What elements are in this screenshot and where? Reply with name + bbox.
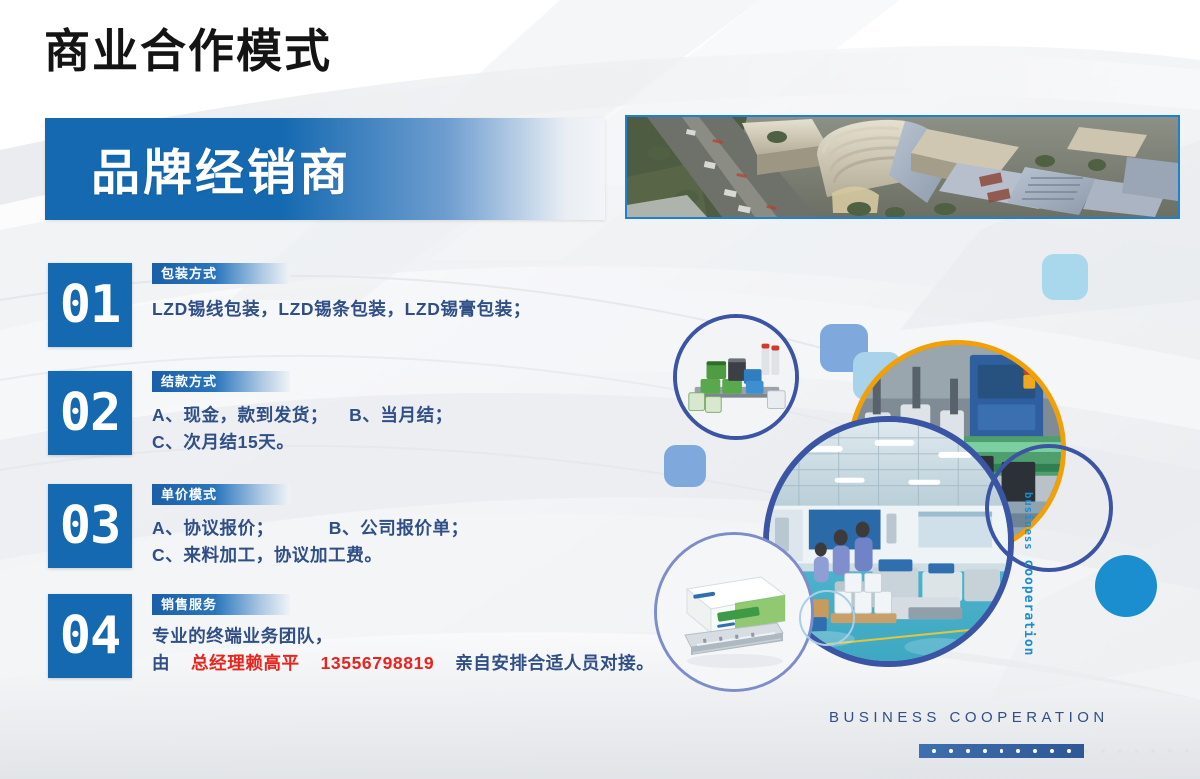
item-option-a: A、现金，款到发货； — [152, 405, 328, 425]
item-number: 02 — [60, 387, 121, 439]
item-text-line: C、来料加工，协议加工费。 — [152, 542, 469, 569]
item-text-line: C、次月结15天。 — [152, 429, 453, 456]
item-text-line: LZD锡线包装，LZD锡条包装，LZD锡膏包装； — [152, 296, 531, 323]
item-tag: 单价模式 — [152, 484, 290, 505]
item-text-line: A、协议报价； B、公司报价单； — [152, 515, 469, 542]
contact-prefix: 由 — [152, 653, 170, 673]
item-number-badge: 02 — [48, 371, 132, 455]
item-number-badge: 04 — [48, 594, 132, 678]
item-option-b: B、公司报价单； — [329, 518, 469, 538]
item-body: 销售服务 专业的终端业务团队， 由 总经理赖高平 13556798819 亲自安… — [152, 594, 654, 677]
progress-dot — [966, 749, 970, 753]
item-number: 04 — [60, 610, 121, 662]
decorative-dot — [1095, 555, 1157, 617]
progress-dot — [1067, 749, 1071, 753]
decorative-ring — [799, 590, 855, 646]
progress-dot — [1050, 749, 1054, 753]
item-body: 单价模式 A、协议报价； B、公司报价单； C、来料加工，协议加工费。 — [152, 484, 469, 569]
progress-dots — [919, 744, 1189, 758]
progress-dot — [1084, 749, 1088, 753]
progress-dot — [983, 749, 987, 753]
item-contact-line: 由 总经理赖高平 13556798819 亲自安排合适人员对接。 — [152, 650, 654, 677]
progress-dot — [1101, 749, 1105, 753]
item-tag: 销售服务 — [152, 594, 290, 615]
item-option-b: B、当月结； — [349, 405, 453, 425]
progress-dot — [1151, 749, 1155, 753]
item-number: 03 — [60, 500, 121, 552]
image-collage — [640, 300, 1200, 720]
progress-dot — [1135, 749, 1139, 753]
page-title: 商业合作模式 — [44, 28, 332, 74]
campus-aerial-photo — [625, 115, 1180, 219]
contact-suffix: 亲自安排合适人员对接。 — [455, 653, 654, 673]
contact-phone[interactable]: 13556798819 — [321, 653, 435, 673]
item-number-badge: 01 — [48, 263, 132, 347]
progress-dot — [1185, 749, 1189, 753]
contact-name: 总经理赖高平 — [191, 653, 300, 673]
progress-dot — [1033, 749, 1037, 753]
item-tag: 结款方式 — [152, 371, 290, 392]
solder-products-photo — [673, 314, 799, 440]
item-text-line: A、现金，款到发货； B、当月结； — [152, 402, 453, 429]
item-body: 结款方式 A、现金，款到发货； B、当月结； C、次月结15天。 — [152, 371, 453, 456]
decorative-ring — [985, 444, 1113, 572]
brand-banner-label: 品牌经销商 — [91, 134, 351, 205]
progress-dot — [949, 749, 953, 753]
decorative-rounded-square — [664, 445, 706, 487]
poster-canvas: 商业合作模式 品牌经销商 — [0, 0, 1200, 779]
item-text-line: 专业的终端业务团队， — [152, 623, 654, 650]
footer-caption: BUSINESS COOPERATION — [829, 709, 1109, 726]
item-body: 包装方式 LZD锡线包装，LZD锡条包装，LZD锡膏包装； — [152, 263, 531, 323]
decorative-rounded-square — [1042, 254, 1088, 300]
product-box-photo — [654, 532, 814, 692]
vertical-label-small: business — [1022, 492, 1034, 551]
item-number-badge: 03 — [48, 484, 132, 568]
brand-banner: 品牌经销商 — [45, 118, 605, 220]
progress-dot — [1118, 749, 1122, 753]
progress-dot-bar — [919, 744, 1189, 758]
progress-dot — [1168, 749, 1172, 753]
vertical-business-cooperation-label: business cooperation — [1021, 492, 1036, 657]
progress-dot — [1000, 749, 1004, 753]
item-number: 01 — [60, 279, 121, 331]
item-option-a: A、协议报价； — [152, 518, 274, 538]
item-tag: 包装方式 — [152, 263, 290, 284]
vertical-label-big: cooperation — [1021, 559, 1036, 656]
progress-dot — [1016, 749, 1020, 753]
progress-dot — [932, 749, 936, 753]
